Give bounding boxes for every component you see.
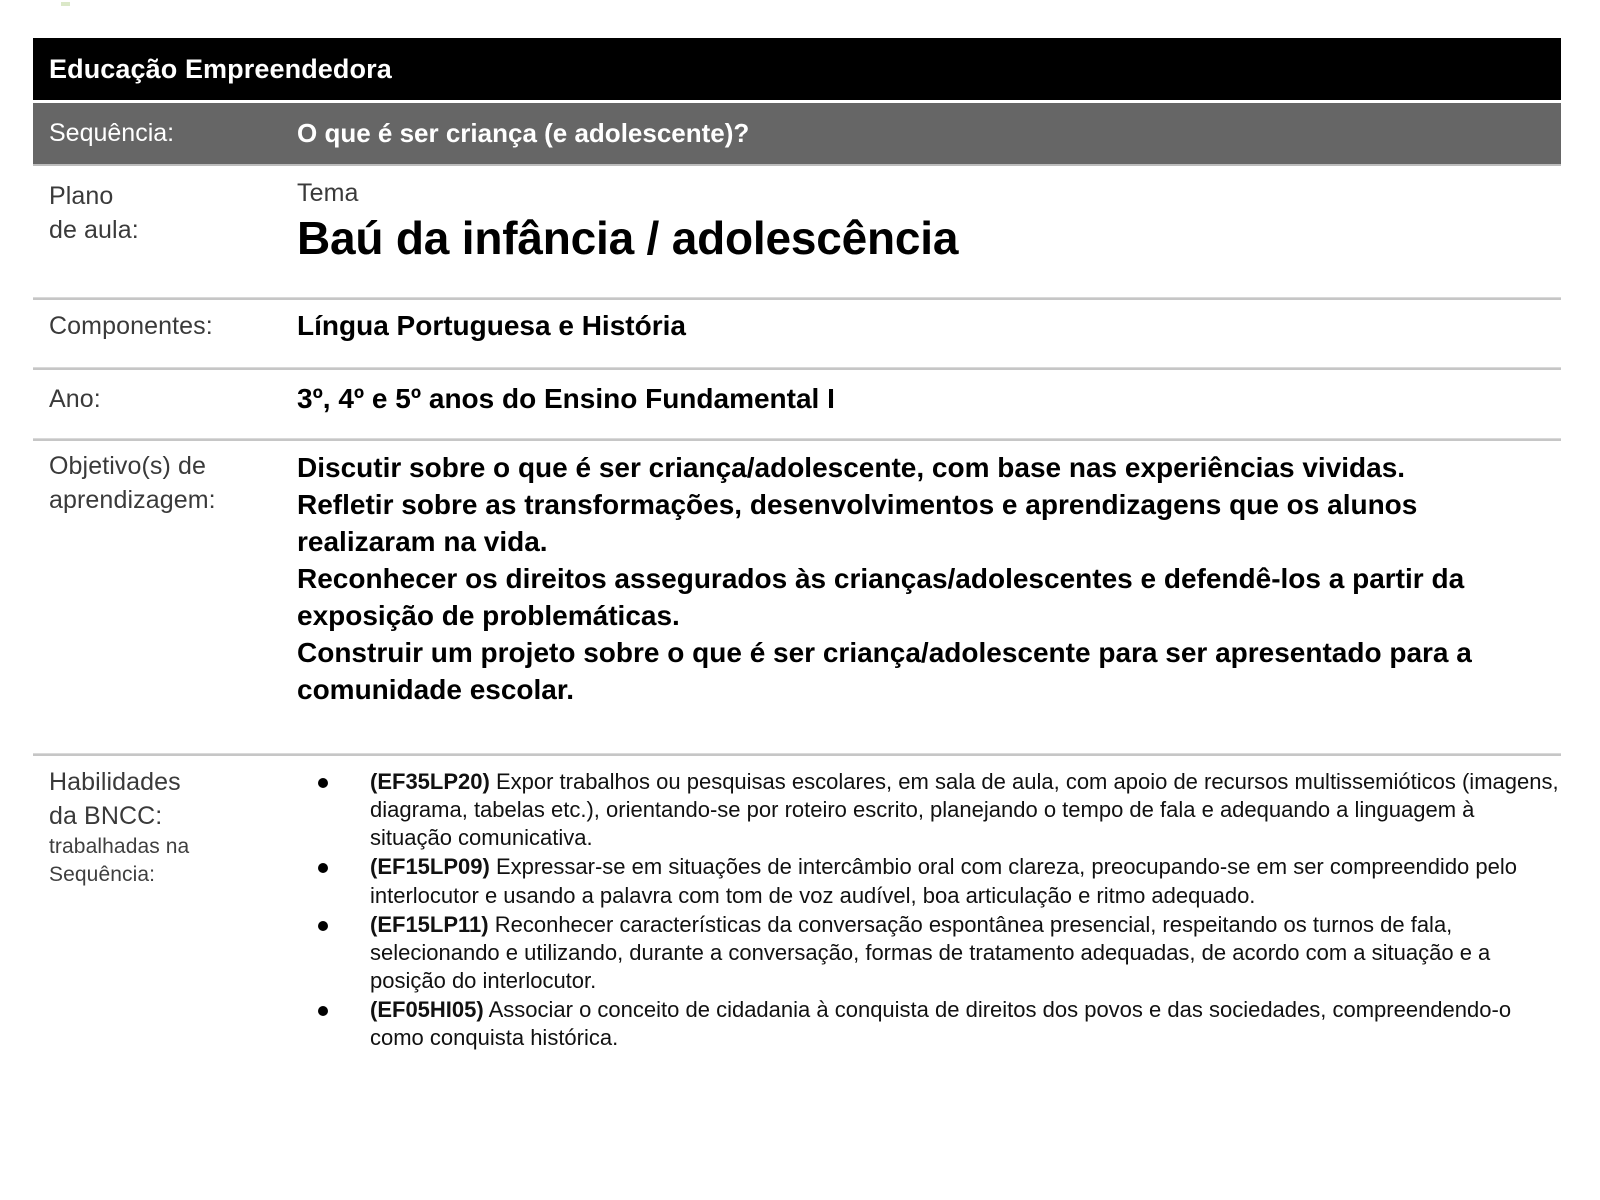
sequence-bar: Sequência: O que é ser criança (e adoles… xyxy=(33,103,1561,166)
objetivo-item: Discutir sobre o que é ser criança/adole… xyxy=(297,450,1472,487)
plano-value: Tema Baú da infância / adolescência xyxy=(297,180,1561,265)
componentes-value: Língua Portuguesa e História xyxy=(297,310,1561,342)
bncc-description: Associar o conceito de cidadania à conqu… xyxy=(370,997,1511,1050)
tema-label: Tema xyxy=(297,180,1561,208)
row-componentes: Componentes: Língua Portuguesa e Históri… xyxy=(33,310,1561,344)
divider-after-ano xyxy=(33,438,1561,441)
objetivo-item: Reconhecer os direitos assegurados às cr… xyxy=(297,561,1472,635)
row-habilidades-bncc: Habilidades da BNCC: trabalhadas na Sequ… xyxy=(33,766,1561,1054)
habilidades-sublabel-line2: Sequência: xyxy=(49,861,297,889)
list-item: (EF15LP11) Reconhecer características da… xyxy=(297,911,1561,995)
row-plano-de-aula: Plano de aula: Tema Baú da infância / ad… xyxy=(33,180,1561,265)
program-title: Educação Empreendedora xyxy=(49,54,392,85)
habilidades-label: Habilidades da BNCC: trabalhadas na Sequ… xyxy=(33,766,297,888)
bullet-icon xyxy=(318,863,328,873)
objetivos-label-line1: Objetivo(s) de xyxy=(49,452,206,480)
divider-after-plano xyxy=(33,297,1561,300)
objetivos-label: Objetivo(s) de aprendizagem: xyxy=(33,450,297,517)
bullet-icon xyxy=(318,1006,328,1016)
habilidades-label-line2: da BNCC: xyxy=(49,802,162,830)
divider-after-objetivos xyxy=(33,753,1561,756)
plano-label-line2: de aula: xyxy=(49,216,139,244)
list-item: (EF35LP20) Expor trabalhos ou pesquisas … xyxy=(297,768,1561,852)
scan-artifact-speck xyxy=(61,2,70,6)
plano-label-line1: Plano xyxy=(49,182,113,210)
habilidades-sublabel-line1: trabalhadas na xyxy=(49,833,297,861)
lesson-plan-page: Educação Empreendedora Sequência: O que … xyxy=(0,0,1600,1200)
bncc-skill-list: (EF35LP20) Expor trabalhos ou pesquisas … xyxy=(297,768,1561,1053)
habilidades-value: (EF35LP20) Expor trabalhos ou pesquisas … xyxy=(297,766,1561,1054)
bncc-description: Reconhecer características da conversaçã… xyxy=(370,912,1490,993)
list-item: (EF05HI05) Associar o conceito de cidada… xyxy=(297,996,1561,1052)
bncc-code: (EF15LP09) xyxy=(370,854,490,879)
row-ano: Ano: 3º, 4º e 5º anos do Ensino Fundamen… xyxy=(33,383,1561,417)
habilidades-label-line1: Habilidades xyxy=(49,768,181,796)
list-item: (EF15LP09) Expressar-se em situações de … xyxy=(297,853,1561,909)
ano-label: Ano: xyxy=(33,383,297,417)
bullet-icon xyxy=(318,778,328,788)
bncc-code: (EF05HI05) xyxy=(370,997,484,1022)
ano-value: 3º, 4º e 5º anos do Ensino Fundamental I xyxy=(297,383,1561,415)
objetivo-item: Construir um projeto sobre o que é ser c… xyxy=(297,635,1472,709)
row-objetivos-de-aprendizagem: Objetivo(s) de aprendizagem: Discutir so… xyxy=(33,450,1561,709)
divider-after-componentes xyxy=(33,367,1561,370)
bullet-icon xyxy=(318,921,328,931)
bncc-description: Expor trabalhos ou pesquisas escolares, … xyxy=(370,769,1559,850)
sequence-label: Sequência: xyxy=(49,119,297,148)
objetivos-label-line2: aprendizagem: xyxy=(49,486,216,514)
bncc-description: Expressar-se em situações de intercâmbio… xyxy=(370,854,1517,907)
plano-label: Plano de aula: xyxy=(33,180,297,247)
componentes-label: Componentes: xyxy=(33,310,297,344)
sequence-value: O que é ser criança (e adolescente)? xyxy=(297,118,749,149)
objetivo-item: Refletir sobre as transformações, desenv… xyxy=(297,487,1472,561)
objetivos-list: Discutir sobre o que é ser criança/adole… xyxy=(297,450,1472,709)
bncc-code: (EF35LP20) xyxy=(370,769,490,794)
bncc-code: (EF15LP11) xyxy=(370,912,489,937)
program-title-bar: Educação Empreendedora xyxy=(33,38,1561,100)
tema-title: Baú da infância / adolescência xyxy=(297,212,1561,265)
